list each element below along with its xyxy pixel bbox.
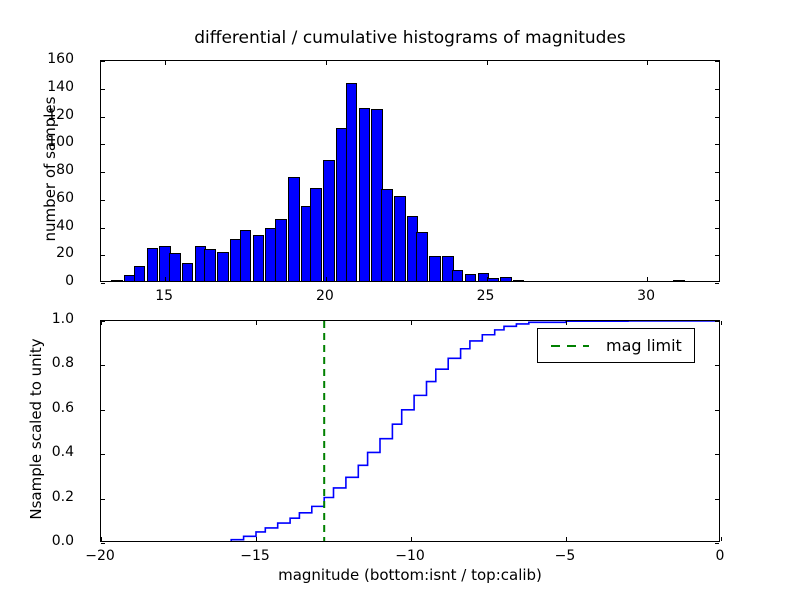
histogram-bar (204, 249, 216, 281)
y-tick-mark (101, 410, 105, 411)
histogram-bar (240, 230, 252, 281)
histogram-bar (111, 280, 123, 281)
y-tick-mark (715, 255, 719, 256)
y-tick-label: 20 (14, 245, 74, 261)
x-tick-mark (647, 277, 648, 281)
y-tick-mark (101, 144, 105, 145)
y-tick-mark (101, 255, 105, 256)
x-tick-label: 20 (295, 288, 355, 304)
y-tick-mark (715, 410, 719, 411)
y-tick-label: 60 (14, 190, 74, 206)
x-tick-mark (256, 537, 257, 541)
differential-histogram-plot-area (101, 61, 719, 281)
figure-title: differential / cumulative histograms of … (100, 28, 720, 48)
histogram-bar (147, 248, 159, 281)
histogram-bar (275, 219, 287, 281)
histogram-bar (465, 274, 477, 281)
bottom-axis-xlabel: magnitude (bottom:isnt / top:calib) (100, 566, 720, 584)
cumulative-histogram-axes: mag limit (100, 320, 720, 542)
x-tick-label: −20 (70, 548, 130, 564)
histogram-bar (288, 177, 300, 281)
histogram-bar (182, 263, 194, 281)
y-tick-mark (715, 172, 719, 173)
y-tick-mark (715, 283, 719, 284)
y-tick-mark (715, 117, 719, 118)
x-tick-mark (647, 61, 648, 65)
x-tick-mark (411, 321, 412, 325)
x-tick-mark (165, 61, 166, 65)
figure-canvas: differential / cumulative histograms of … (0, 0, 800, 600)
histogram-bar (217, 252, 229, 281)
histogram-bar (452, 270, 464, 281)
y-tick-mark (101, 200, 105, 201)
y-tick-mark (715, 200, 719, 201)
y-tick-mark (715, 365, 719, 366)
histogram-bar (673, 280, 685, 281)
y-tick-mark (101, 61, 105, 62)
histogram-bar (381, 189, 393, 281)
y-tick-mark (101, 117, 105, 118)
y-tick-label: 80 (14, 162, 74, 178)
y-tick-label: 40 (14, 218, 74, 234)
y-tick-label: 0.0 (14, 533, 74, 549)
y-tick-mark (101, 172, 105, 173)
x-tick-mark (326, 277, 327, 281)
y-tick-label: 160 (14, 51, 74, 67)
histogram-bar (359, 108, 371, 281)
y-tick-label: 140 (14, 79, 74, 95)
x-tick-mark (326, 61, 327, 65)
histogram-bar (500, 277, 512, 281)
histogram-bar (134, 266, 146, 281)
x-tick-mark (566, 321, 567, 325)
differential-histogram-axes (100, 60, 720, 282)
y-tick-mark (101, 454, 105, 455)
y-tick-mark (715, 228, 719, 229)
y-tick-mark (101, 365, 105, 366)
histogram-bar (416, 232, 428, 281)
y-tick-mark (715, 89, 719, 90)
y-tick-label: 0.8 (14, 355, 74, 371)
histogram-bar (487, 278, 499, 281)
y-tick-mark (101, 499, 105, 500)
x-tick-mark (101, 537, 102, 541)
x-tick-label: −10 (380, 548, 440, 564)
y-tick-mark (715, 543, 719, 544)
y-tick-mark (715, 61, 719, 62)
x-tick-label: −15 (225, 548, 285, 564)
y-tick-mark (101, 543, 105, 544)
x-tick-mark (101, 321, 102, 325)
x-tick-label: 30 (616, 288, 676, 304)
y-tick-label: 0 (14, 273, 74, 289)
x-tick-mark (487, 277, 488, 281)
x-tick-mark (721, 537, 722, 541)
x-tick-label: 0 (690, 548, 750, 564)
x-tick-label: 25 (456, 288, 516, 304)
y-tick-label: 120 (14, 107, 74, 123)
x-tick-mark (721, 321, 722, 325)
histogram-bar (513, 280, 525, 281)
x-tick-mark (411, 537, 412, 541)
y-tick-mark (101, 228, 105, 229)
mag-limit-legend-swatch (550, 339, 590, 353)
histogram-bar (429, 256, 441, 281)
x-tick-mark (487, 61, 488, 65)
x-tick-mark (256, 321, 257, 325)
y-tick-mark (101, 89, 105, 90)
x-tick-label: 15 (134, 288, 194, 304)
legend-box: mag limit (537, 328, 695, 363)
y-tick-label: 0.4 (14, 444, 74, 460)
histogram-bar (394, 196, 406, 281)
y-tick-label: 0.6 (14, 400, 74, 416)
x-tick-mark (165, 277, 166, 281)
x-tick-label: −5 (535, 548, 595, 564)
x-tick-mark (566, 537, 567, 541)
y-tick-mark (715, 499, 719, 500)
y-tick-label: 100 (14, 134, 74, 150)
histogram-bar (169, 253, 181, 281)
y-tick-mark (715, 321, 719, 322)
y-tick-label: 0.2 (14, 489, 74, 505)
histogram-bar (253, 235, 265, 281)
y-tick-mark (101, 283, 105, 284)
y-tick-label: 1.0 (14, 311, 74, 327)
mag-limit-legend-label: mag limit (606, 336, 682, 355)
y-tick-mark (715, 144, 719, 145)
y-tick-mark (715, 454, 719, 455)
histogram-bar (323, 160, 335, 281)
bottom-axis-ylabel: Nsample scaled to unity (27, 315, 45, 543)
histogram-bar (346, 83, 358, 281)
histogram-bar (310, 188, 322, 281)
